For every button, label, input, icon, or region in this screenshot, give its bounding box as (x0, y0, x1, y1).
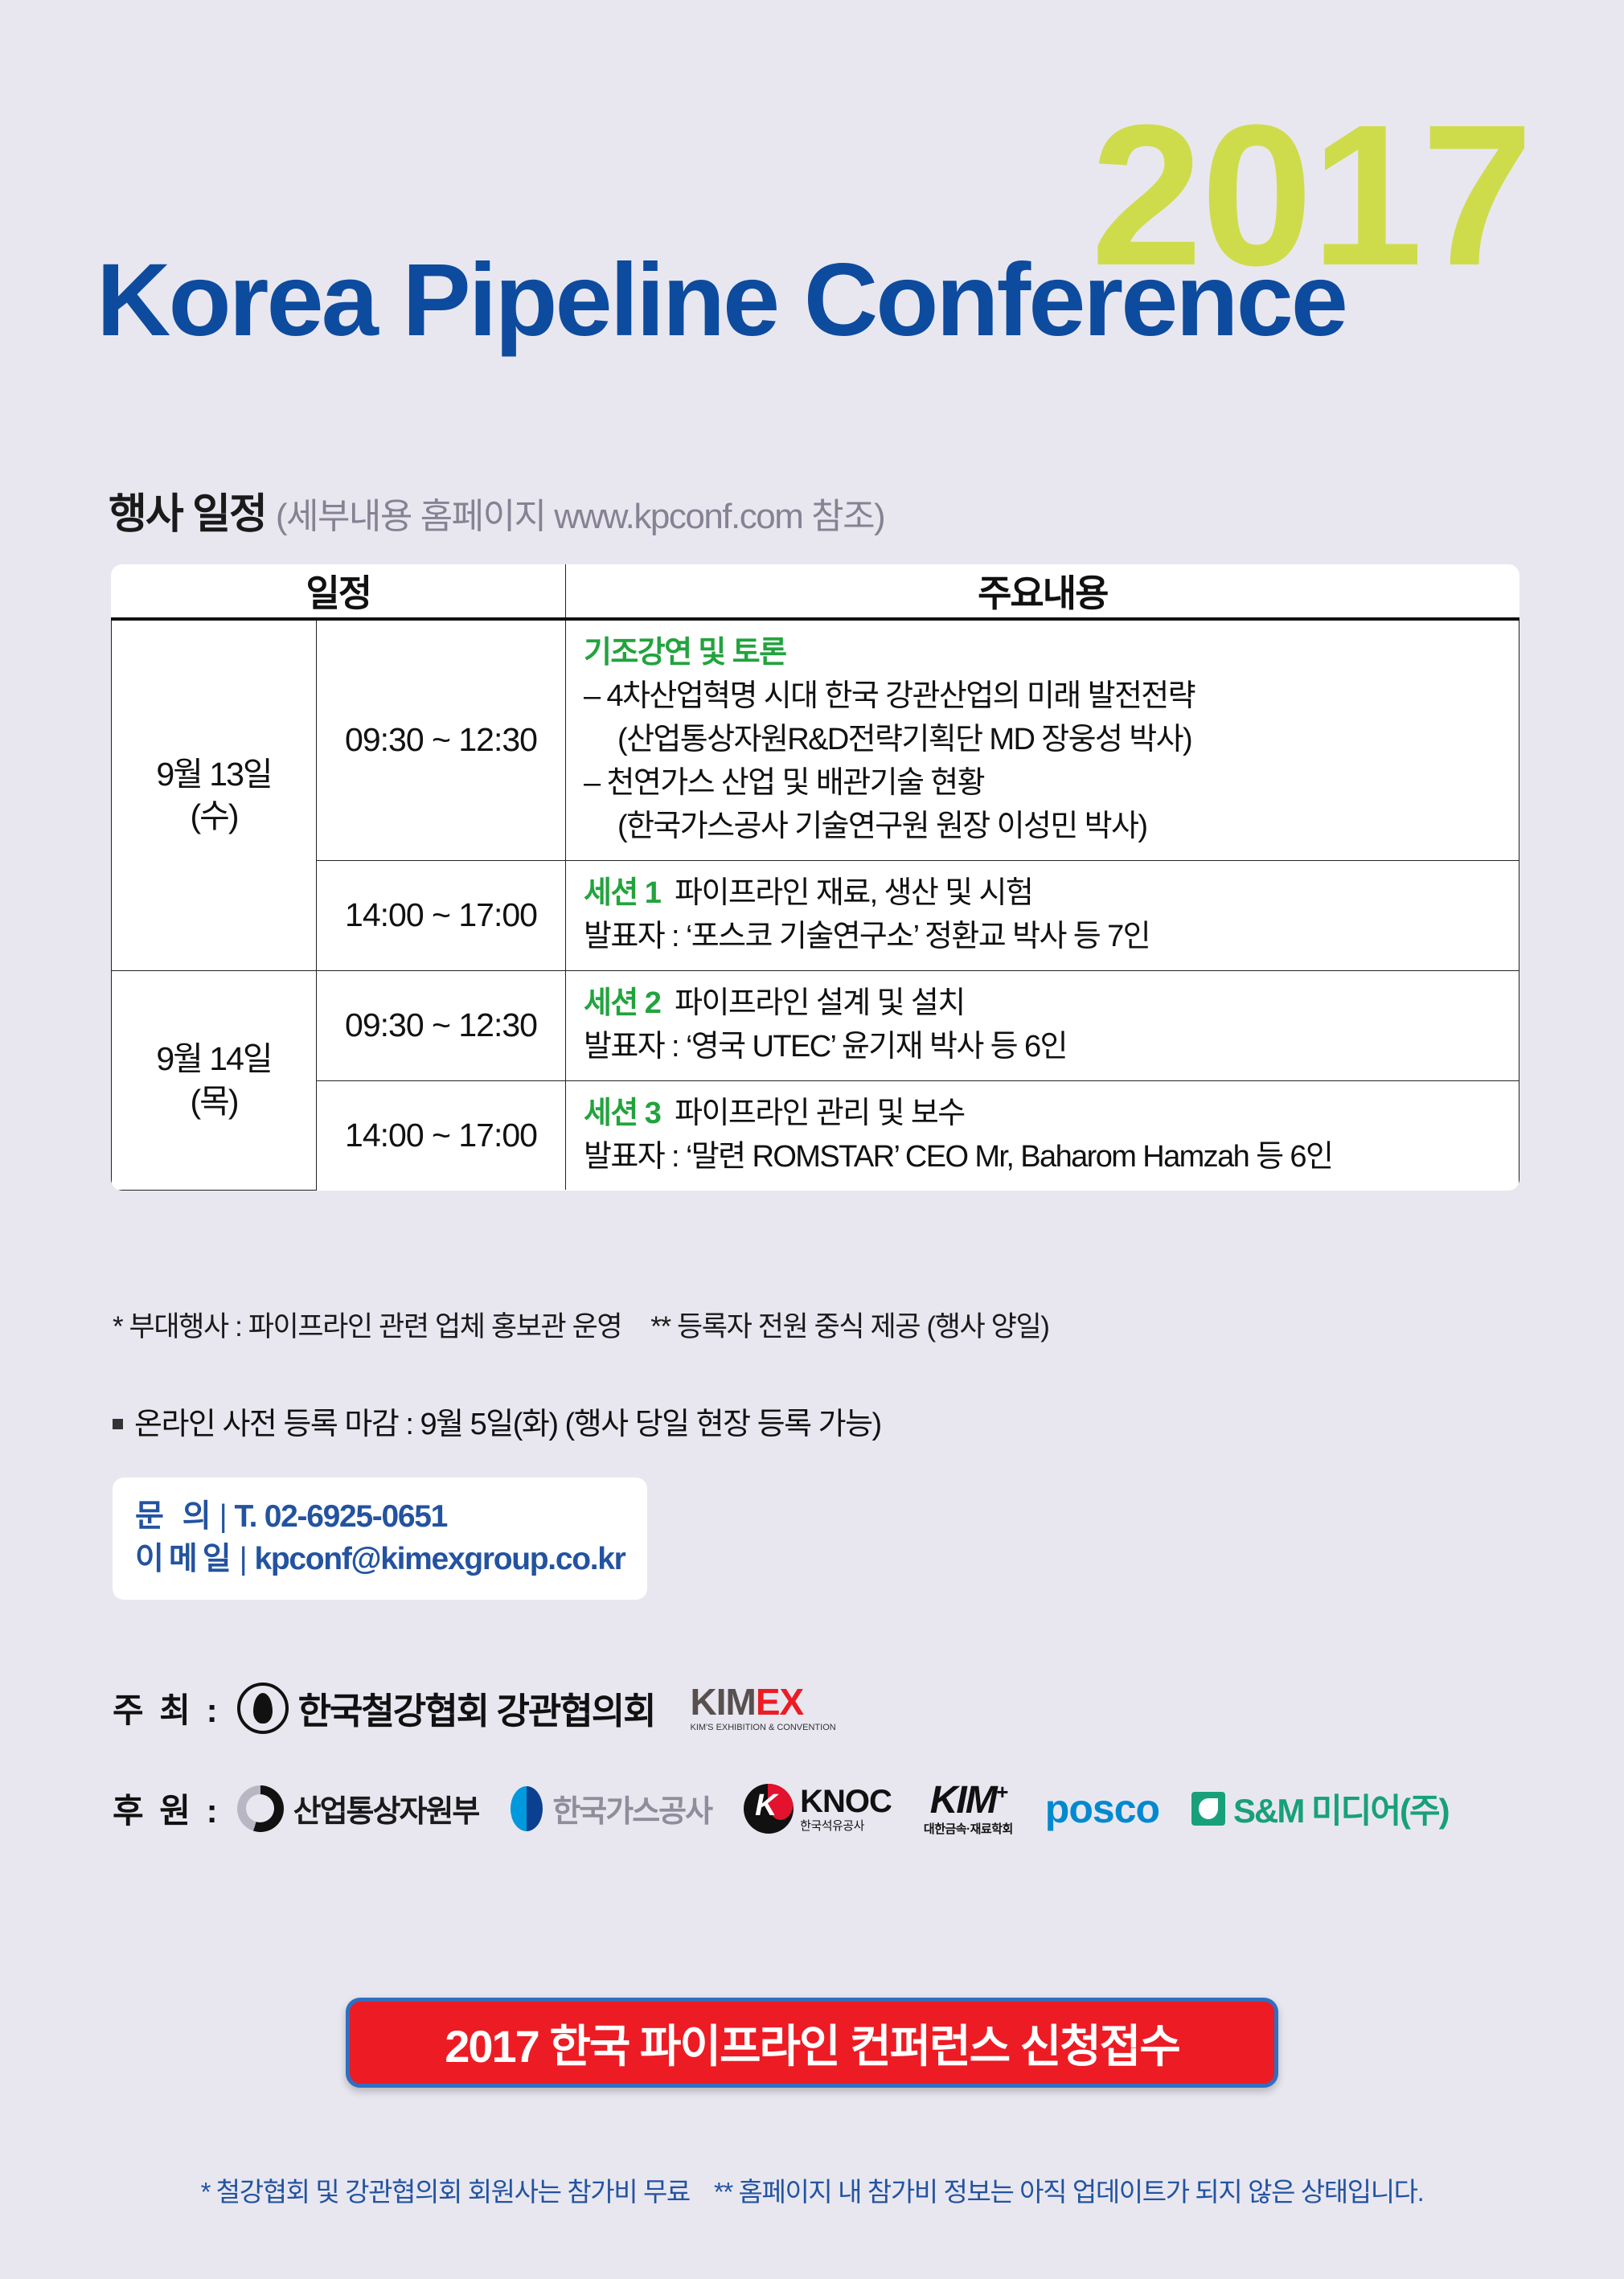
contact-phone-label: 문 의 (135, 1499, 216, 1534)
contact-email-row: 이메일|kpconf@kimexgroup.co.kr (135, 1538, 647, 1580)
contact-separator: | (219, 1499, 227, 1534)
supporter-knoc: K KNOC 한국석유공사 (744, 1784, 892, 1834)
session2-label: 세션 2 (584, 986, 660, 1020)
table-row: 14:00 ~ 17:00 세션 3 파이프라인 관리 및 보수 발표자 : ‘… (112, 1080, 1519, 1190)
knoc-k-letter: K (755, 1790, 777, 1821)
session1-line: 세션 1 파이프라인 재료, 생산 및 시험 (584, 872, 1519, 916)
knoc-text-block: KNOC 한국석유공사 (800, 1785, 892, 1832)
supporters-label: 후 원 : (113, 1784, 221, 1833)
registration-cta-label: 2017 한국 파이프라인 컨퍼런스 신청접수 (445, 2011, 1179, 2076)
keynote-line-2: (산업통상자원R&D전략기획단 MD 장웅성 박사) (584, 719, 1519, 762)
kim-plus-sign: + (996, 1780, 1007, 1804)
knoc-logo-icon: K (744, 1784, 794, 1834)
side-event-note: * 부대행사 : 파이프라인 관련 업체 홍보관 운영 (113, 1311, 621, 1342)
session2-line: 세션 2 파이프라인 설계 및 설치 (584, 982, 1519, 1026)
schedule-heading-sub: (세부내용 홈페이지 www.kpconf.com 참조) (276, 487, 884, 539)
kimex-logo-icon: KIMEX KIM'S EXHIBITION & CONVENTION (691, 1683, 836, 1732)
date-cell-day1: 9월 13일 (수) (112, 619, 317, 970)
keynote-line-1: – 4차산업혁명 시대 한국 강관산업의 미래 발전전략 (584, 675, 1519, 719)
weekday-text: (수) (112, 795, 316, 837)
kim-mark-text: KIM (930, 1779, 996, 1822)
table-footnote: * 부대행사 : 파이프라인 관련 업체 홍보관 운영** 등록자 전원 중식 … (113, 1304, 1049, 1345)
snm-media-logo-icon (1191, 1792, 1225, 1826)
poster-footnote: * 철강협회 및 강관협의회 회원사는 참가비 무료** 홈페이지 내 참가비 … (0, 2170, 1624, 2209)
session1-subject: 파이프라인 재료, 생산 및 시험 (675, 876, 1032, 910)
kogas-logo-icon (511, 1786, 543, 1831)
registration-deadline-note: 온라인 사전 등록 마감 : 9월 5일(화) (행사 당일 현장 등록 가능) (113, 1399, 881, 1443)
kim-logo-icon: KIM+ (930, 1781, 1007, 1820)
date-text: 9월 13일 (112, 753, 316, 795)
session1-presenter: 발표자 : ‘포스코 기술연구소’ 정환교 박사 등 7인 (584, 916, 1519, 959)
supporter-motie: 산업통상자원부 (237, 1785, 479, 1832)
supporter-kim: KIM+ 대한금속·재료학회 (924, 1781, 1013, 1835)
supporter-snm: S&M 미디어(주) (1191, 1784, 1449, 1833)
session3-line: 세션 3 파이프라인 관리 및 보수 (584, 1092, 1519, 1136)
contact-separator: | (240, 1542, 247, 1576)
time-cell: 09:30 ~ 12:30 (317, 619, 566, 860)
square-bullet-icon (113, 1419, 123, 1429)
session3-subject: 파이프라인 관리 및 보수 (675, 1096, 964, 1130)
supporter-motie-name: 산업통상자원부 (293, 1786, 479, 1830)
motie-taegeuk-icon (237, 1785, 284, 1832)
weekday-text: (목) (112, 1080, 316, 1122)
keynote-heading: 기조강연 및 토론 (584, 632, 1519, 675)
supporter-kim-sub: 대한금속·재료학회 (924, 1823, 1013, 1835)
contact-box: 문 의|T. 02-6925-0651 이메일|kpconf@kimexgrou… (113, 1478, 647, 1600)
column-header-content: 주요내용 (566, 564, 1519, 619)
table-row: 14:00 ~ 17:00 세션 1 파이프라인 재료, 생산 및 시험 발표자… (112, 860, 1519, 970)
organizers-row: 주 최 : 한국철강협회 강관협의회 KIMEX KIM'S EXHIBITIO… (113, 1682, 836, 1734)
kimex-part2: EX (756, 1681, 803, 1723)
time-cell: 09:30 ~ 12:30 (317, 970, 566, 1080)
table-row: 9월 13일 (수) 09:30 ~ 12:30 기조강연 및 토론 – 4차산… (112, 619, 1519, 860)
session3-presenter: 발표자 : ‘말련 ROMSTAR’ CEO Mr, Baharom Hamza… (584, 1136, 1519, 1179)
session3-label: 세션 3 (584, 1096, 660, 1130)
supporters-row: 후 원 : 산업통상자원부 한국가스공사 K KNOC 한국석유공사 KIM+ … (113, 1781, 1481, 1835)
keynote-line-4: (한국가스공사 기술연구원 원장 이성민 박사) (584, 805, 1519, 849)
kimex-part1: KIM (691, 1681, 756, 1723)
date-cell-day2: 9월 14일 (목) (112, 970, 317, 1190)
supporter-knoc-name: KNOC (800, 1785, 892, 1818)
contact-phone-value[interactable]: T. 02-6925-0651 (234, 1499, 447, 1534)
column-header-date: 일정 (112, 564, 566, 619)
content-cell-session2: 세션 2 파이프라인 설계 및 설치 발표자 : ‘영국 UTEC’ 윤기재 박… (566, 970, 1519, 1080)
contact-email-label: 이메일 (135, 1542, 236, 1576)
schedule-heading: 행사 일정 (세부내용 홈페이지 www.kpconf.com 참조) (109, 480, 884, 540)
content-cell-session1: 세션 1 파이프라인 재료, 생산 및 시험 발표자 : ‘포스코 기술연구소’… (566, 860, 1519, 970)
poster-header: 2017 Korea Pipeline Conference (0, 0, 1624, 426)
kimex-tagline: KIM'S EXHIBITION & CONVENTION (691, 1724, 836, 1732)
contact-phone-row: 문 의|T. 02-6925-0651 (135, 1495, 647, 1538)
time-cell: 14:00 ~ 17:00 (317, 1080, 566, 1190)
posco-logo-icon: posco (1045, 1785, 1159, 1832)
supporter-posco: posco (1045, 1785, 1159, 1832)
keynote-line-3: – 천연가스 산업 및 배관기술 현황 (584, 762, 1519, 805)
date-text: 9월 14일 (112, 1038, 316, 1080)
supporter-kogas-name: 한국가스공사 (552, 1786, 712, 1830)
organizer-kisa-name: 한국철강협회 강관협의회 (298, 1682, 655, 1734)
schedule-heading-main: 행사 일정 (109, 480, 266, 540)
kisa-emblem-icon (237, 1683, 289, 1734)
registration-deadline-text: 온라인 사전 등록 마감 : 9월 5일(화) (행사 당일 현장 등록 가능) (134, 1408, 881, 1441)
session1-label: 세션 1 (584, 876, 660, 910)
organizers-label: 주 최 : (113, 1683, 221, 1732)
session2-presenter: 발표자 : ‘영국 UTEC’ 윤기재 박사 등 6인 (584, 1026, 1519, 1069)
supporter-kogas: 한국가스공사 (511, 1786, 712, 1831)
schedule-table-container: 일정 주요내용 9월 13일 (수) 09:30 ~ 12:30 기조강연 및 … (111, 564, 1519, 1191)
lunch-note: ** 등록자 전원 중식 제공 (행사 양일) (650, 1311, 1048, 1342)
time-cell: 14:00 ~ 17:00 (317, 860, 566, 970)
table-row: 9월 14일 (목) 09:30 ~ 12:30 세션 2 파이프라인 설계 및… (112, 970, 1519, 1080)
schedule-table: 일정 주요내용 9월 13일 (수) 09:30 ~ 12:30 기조강연 및 … (111, 564, 1519, 1191)
content-cell-session3: 세션 3 파이프라인 관리 및 보수 발표자 : ‘말련 ROMSTAR’ CE… (566, 1080, 1519, 1190)
page-title: Korea Pipeline Conference (96, 249, 1346, 352)
contact-email-value[interactable]: kpconf@kimexgroup.co.kr (254, 1542, 625, 1576)
supporter-knoc-sub: 한국석유공사 (800, 1820, 892, 1832)
session2-subject: 파이프라인 설계 및 설치 (675, 986, 964, 1020)
footnote-part1: * 철강협회 및 강관협의회 회원사는 참가비 무료 (201, 2177, 690, 2207)
footnote-part2: ** 홈페이지 내 참가비 정보는 아직 업데이트가 되지 않은 상태입니다. (714, 2177, 1424, 2207)
supporter-snm-name: S&M 미디어(주) (1233, 1784, 1449, 1833)
registration-cta-button[interactable]: 2017 한국 파이프라인 컨퍼런스 신청접수 (346, 1998, 1278, 2088)
content-cell-keynote: 기조강연 및 토론 – 4차산업혁명 시대 한국 강관산업의 미래 발전전략 (… (566, 619, 1519, 860)
table-header-row: 일정 주요내용 (112, 564, 1519, 619)
